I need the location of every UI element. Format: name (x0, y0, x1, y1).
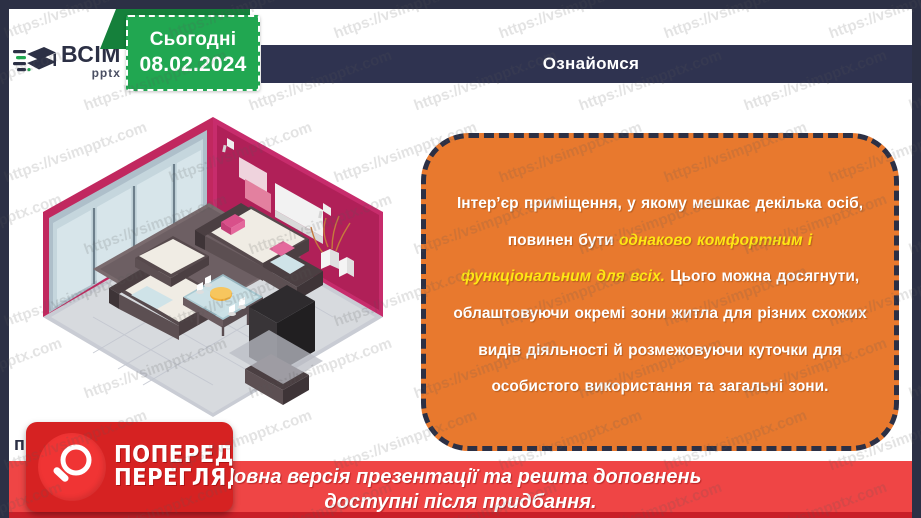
page-title: Ознайомся (543, 54, 639, 74)
date-badge-value: 08.02.2024 (139, 53, 246, 77)
slide-header-bar: Ознайомся (261, 45, 912, 83)
slide-canvas: ВСІМ pptx Сьогодні 08.02.2024 Ознайомся (9, 9, 912, 518)
content-part2: Цього можна досягнути, облаштовуючи окре… (453, 268, 866, 395)
preview-badge-text: ПОПЕРЕДНІЙ ПЕРЕГЛЯД (114, 444, 233, 490)
brand-subtitle: pptx (61, 67, 121, 79)
content-callout-box: Інтер’єр приміщення, у якому мешкає декі… (421, 133, 899, 451)
magnifier-icon (38, 433, 106, 501)
preview-badge-line-1: ПОПЕРЕДНІЙ (114, 444, 233, 467)
preview-badge-line-2: ПЕРЕГЛЯД (114, 467, 233, 490)
isometric-living-room-illustration (23, 117, 403, 437)
preview-badge: ПОПЕРЕДНІЙ ПЕРЕГЛЯД (26, 422, 233, 512)
date-badge: Сьогодні 08.02.2024 (126, 15, 260, 91)
content-paragraph: Інтер’єр приміщення, у якому мешкає декі… (452, 186, 868, 405)
slide-root: ВСІМ pptx Сьогодні 08.02.2024 Ознайомся (0, 0, 921, 518)
purchase-notice-line-2: доступні після придбання. (324, 490, 596, 515)
purchase-notice-line-1: Повна версія презентації та решта доповн… (220, 465, 702, 490)
graduation-cap-icon (13, 41, 57, 81)
occluded-text: п (14, 434, 25, 455)
date-badge-label: Сьогодні (150, 29, 236, 51)
